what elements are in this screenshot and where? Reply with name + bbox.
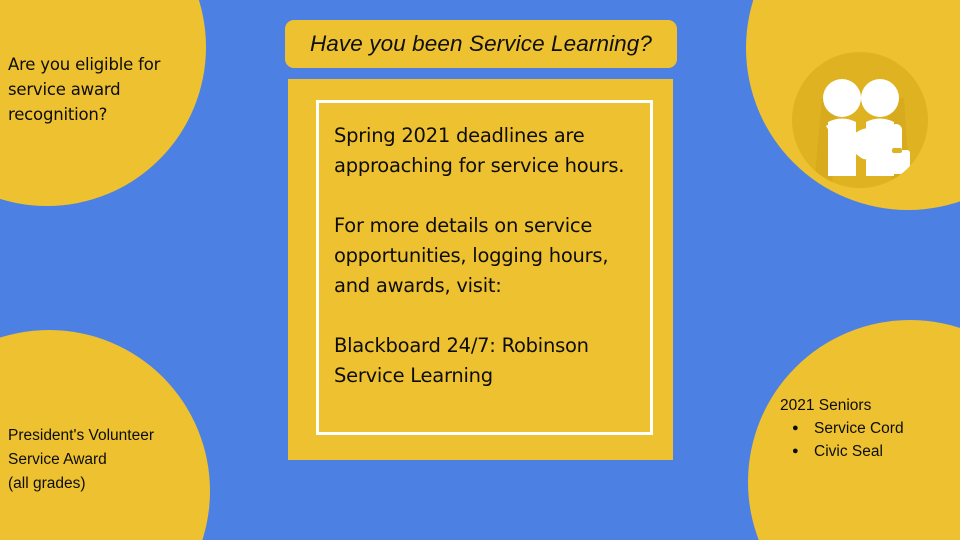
eligibility-question-text: Are you eligible for service award recog… (8, 52, 188, 127)
seniors-award-list: Service Cord Civic Seal (780, 417, 950, 463)
slide-title-banner: Have you been Service Learning? (285, 20, 677, 68)
slide-canvas: Are you eligible for service award recog… (0, 0, 960, 540)
main-content-card: Spring 2021 deadlines are approaching fo… (288, 79, 673, 460)
content-inner-border: Spring 2021 deadlines are approaching fo… (316, 100, 653, 435)
list-item: Service Cord (814, 417, 950, 440)
page-title: Have you been Service Learning? (310, 31, 652, 57)
seniors-awards-block: 2021 Seniors Service Cord Civic Seal (780, 394, 950, 463)
presidents-volunteer-service-award-text: President's Volunteer Service Award (all… (8, 424, 208, 496)
handshake-icon (792, 52, 928, 188)
seniors-heading: 2021 Seniors (780, 394, 950, 417)
list-item: Civic Seal (814, 440, 950, 463)
body-text: Spring 2021 deadlines are approaching fo… (334, 121, 634, 391)
